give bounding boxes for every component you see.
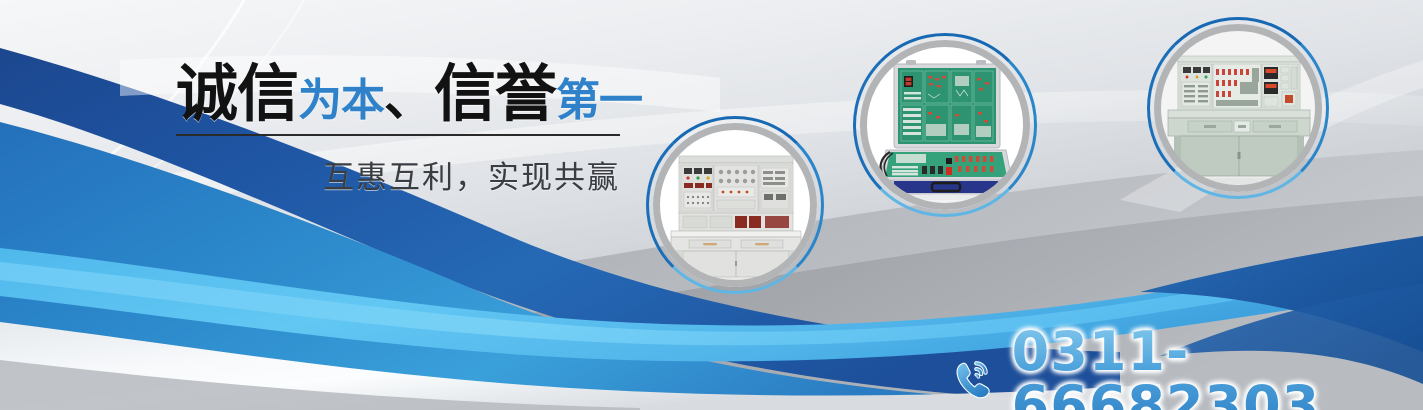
large-electrical-training-bench-illustration (1154, 24, 1322, 192)
product-circle-1[interactable] (653, 123, 817, 287)
product-circle-2[interactable] (860, 40, 1030, 210)
subtitle: 互惠互利，实现共赢 (176, 152, 620, 197)
headline-part-4: 第一 (556, 76, 642, 125)
phone-number[interactable]: 0311-66682303 (1012, 325, 1423, 410)
headline-block: 诚信为本、信誉第一 互惠互利，实现共赢 (176, 64, 628, 197)
contact-block: 0311-66682303 (952, 325, 1423, 410)
headline-part-2: 为本 (298, 76, 384, 125)
headline-part-3: 信誉 (434, 60, 556, 129)
product-circle-3[interactable] (1154, 24, 1322, 192)
headline-separator: 、 (384, 70, 434, 126)
headline-divider (176, 134, 620, 136)
headline-part-1: 诚信 (176, 60, 298, 129)
portable-electronics-trainer-case-illustration (860, 40, 1030, 210)
promotional-banner: 诚信为本、信誉第一 互惠互利，实现共赢 (0, 0, 1423, 410)
phone-ringing-icon[interactable] (952, 352, 998, 406)
headline: 诚信为本、信誉第一 (176, 64, 628, 126)
electrical-training-workbench-illustration (653, 123, 817, 287)
